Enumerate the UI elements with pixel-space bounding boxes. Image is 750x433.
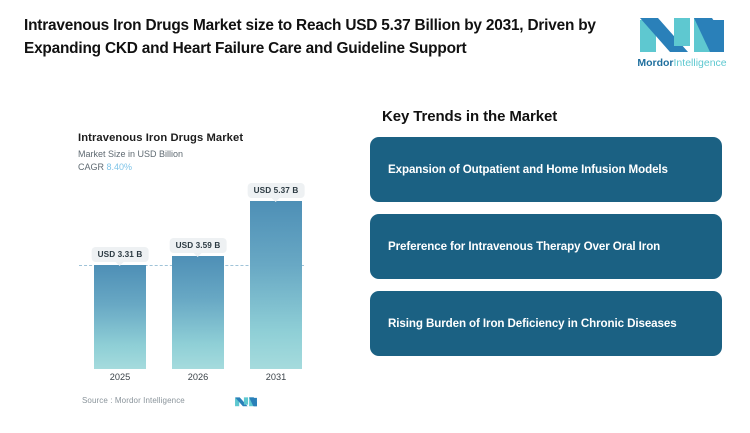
bar-label-2031: USD 5.37 B [248, 183, 305, 198]
x-tick-2031: 2031 [250, 372, 302, 382]
logo-brand-light: Intelligence [674, 57, 727, 69]
x-tick-2025: 2025 [94, 372, 146, 382]
market-size-chart: Intravenous Iron Drugs Market Market Siz… [78, 132, 310, 412]
chart-title: Intravenous Iron Drugs Market [78, 132, 310, 144]
key-trends-panel: Key Trends in the Market Expansion of Ou… [370, 108, 722, 356]
bar-2026 [172, 256, 224, 369]
cagr-value: 8.40% [107, 162, 133, 172]
cagr-label: CAGR [78, 162, 104, 172]
bar-2025 [94, 265, 146, 369]
trend-card-1[interactable]: Expansion of Outpatient and Home Infusio… [370, 137, 722, 202]
trend-card-3[interactable]: Rising Burden of Iron Deficiency in Chro… [370, 291, 722, 356]
header: Intravenous Iron Drugs Market size to Re… [0, 0, 750, 92]
chart-source-text: Source : Mordor Intelligence [82, 396, 185, 405]
chart-subtitle: Market Size in USD Billion [78, 149, 310, 159]
mordor-logo-wordmark: MordorIntelligence [636, 57, 728, 69]
mordor-logo-mark [636, 10, 728, 54]
mordor-logo-small-icon [234, 394, 258, 408]
trend-card-3-text: Rising Burden of Iron Deficiency in Chro… [370, 315, 695, 332]
trend-card-1-text: Expansion of Outpatient and Home Infusio… [370, 161, 686, 178]
chart-cagr: CAGR 8.40% [78, 162, 310, 172]
key-trends-title: Key Trends in the Market [382, 108, 722, 125]
chart-x-axis: 2025 2026 2031 [78, 372, 310, 388]
bar-2031 [250, 201, 302, 369]
trend-card-2[interactable]: Preference for Intravenous Therapy Over … [370, 214, 722, 279]
trend-card-2-text: Preference for Intravenous Therapy Over … [370, 238, 678, 255]
page-title: Intravenous Iron Drugs Market size to Re… [24, 14, 624, 60]
bar-label-2026: USD 3.59 B [170, 238, 227, 253]
bar-label-2025: USD 3.31 B [92, 247, 149, 262]
chart-plot-area: USD 3.31 B USD 3.59 B USD 5.37 B [78, 184, 310, 369]
logo-brand-bold: Mordor [637, 57, 673, 69]
x-tick-2026: 2026 [172, 372, 224, 382]
mordor-intelligence-logo: MordorIntelligence [636, 10, 728, 76]
chart-source-row: Source : Mordor Intelligence [82, 394, 310, 410]
